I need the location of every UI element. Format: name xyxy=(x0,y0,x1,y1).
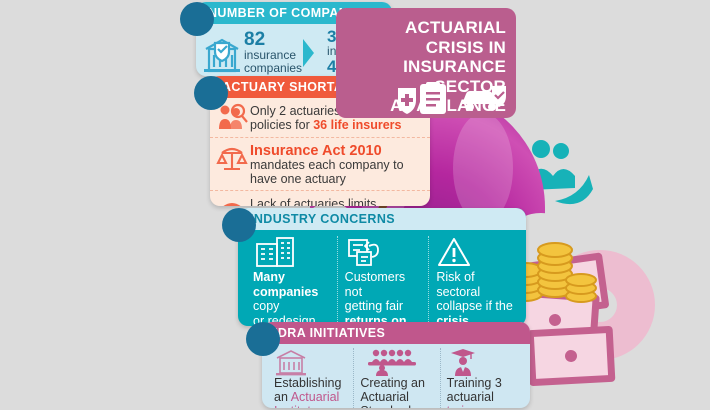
concern-rest-2: copy xyxy=(253,299,279,313)
idra-highlight-3: Institute xyxy=(274,404,318,408)
office-building-icon xyxy=(253,236,330,270)
warning-triangle-icon xyxy=(436,236,513,270)
concern-text: Many companies copy or redesign each oth… xyxy=(253,270,330,326)
shortage-text-a: Lack of actuaries limits xyxy=(250,197,376,206)
idra-line-2: actuarial xyxy=(447,390,494,404)
section-header-idra: IDRA INITIATIVES xyxy=(262,322,530,344)
concern-column: Many companies copy or redesign each oth… xyxy=(246,236,337,326)
title-icons xyxy=(336,82,516,116)
idra-column: Creating an Actuarial Standards Board an… xyxy=(353,348,439,408)
document-return-icon xyxy=(345,236,422,270)
section-badge-companies xyxy=(180,2,214,36)
title-panel: ACTUARIAL CRISIS IN INSURANCE SECTOR AT … xyxy=(336,8,516,118)
companies-total-value: 82 xyxy=(244,30,302,49)
idra-column: Establishing an Actuarial Institute xyxy=(268,348,353,408)
shortage-highlight: Insurance Act 2010 xyxy=(250,143,382,159)
umbrella-shield-icon xyxy=(216,196,250,206)
idra-highlight-3: trainee officers xyxy=(447,404,487,408)
idra-line-2: Standards xyxy=(360,404,417,408)
car-shield-icon xyxy=(462,86,506,111)
people-magnifier-icon xyxy=(216,103,250,133)
concern-text: Risk of sectoral collapse if the crisis … xyxy=(436,270,513,326)
concern-bold-1: Many xyxy=(253,270,285,284)
graduate-icon xyxy=(447,348,520,376)
idra-line-2: an xyxy=(274,390,291,404)
shortage-text-b: mandates each company to xyxy=(250,158,404,172)
idra-text: Establishing an Actuarial Institute xyxy=(274,376,347,408)
shortage-highlight: 36 life insurers xyxy=(313,118,401,132)
section-concerns: INDUSTRY CONCERNS Many companies copy xyxy=(238,208,526,326)
bank-building-shield-icon xyxy=(202,29,244,75)
idra-highlight-2: Actuarial xyxy=(291,390,340,404)
idra-line-1: Establishing xyxy=(274,376,341,390)
law-scales-icon xyxy=(216,143,250,175)
section-header-concerns: INDUSTRY CONCERNS xyxy=(238,208,526,230)
banknote-shape xyxy=(527,326,616,386)
shortage-row: Insurance Act 2010 mandates each company… xyxy=(210,138,430,191)
concern-bold-2: companies xyxy=(253,285,318,299)
health-shield-clipboard-icon xyxy=(398,82,446,114)
concern-column: Risk of sectoral collapse if the crisis … xyxy=(428,236,520,326)
concern-line-1: Risk of sectoral xyxy=(436,270,480,299)
idra-text: Training 3 actuarial trainee officers xyxy=(447,376,520,408)
section-badge-idra xyxy=(246,322,280,356)
concern-column: Customers not getting fair returns on po… xyxy=(337,236,429,326)
concern-text: Customers not getting fair returns on po… xyxy=(345,270,422,326)
shortage-row-text: Lack of actuaries limits innovation and … xyxy=(250,196,377,206)
companies-total: 82 insurance companies in total xyxy=(244,29,302,76)
concern-line-2: getting fair xyxy=(345,299,403,313)
institute-building-icon xyxy=(274,348,347,376)
board-meeting-icon xyxy=(360,348,433,376)
title-line-1: ACTUARIAL CRISIS IN xyxy=(344,18,506,57)
idra-line-1: Creating an Actuarial xyxy=(360,376,425,404)
concern-line-2: collapse if the xyxy=(436,299,512,313)
shortage-text-c: have one actuary xyxy=(250,172,346,186)
shortage-row: Lack of actuaries limits innovation and … xyxy=(210,191,430,206)
shortage-text-b: policies for xyxy=(250,118,313,132)
shortage-row-text: Insurance Act 2010 mandates each company… xyxy=(250,143,404,186)
idra-line-1: Training 3 xyxy=(447,376,502,390)
idra-column: Training 3 actuarial trainee officers xyxy=(440,348,526,408)
infographic-canvas: sun xyxy=(0,0,710,410)
section-badge-concerns xyxy=(222,208,256,242)
section-idra: IDRA INITIATIVES Establishing an Actuari… xyxy=(262,322,530,408)
concern-line-1: Customers not xyxy=(345,270,405,299)
section-badge-shortage xyxy=(194,76,228,110)
idra-text: Creating an Actuarial Standards Board an… xyxy=(360,376,433,408)
split-arrow-icon xyxy=(303,39,325,67)
